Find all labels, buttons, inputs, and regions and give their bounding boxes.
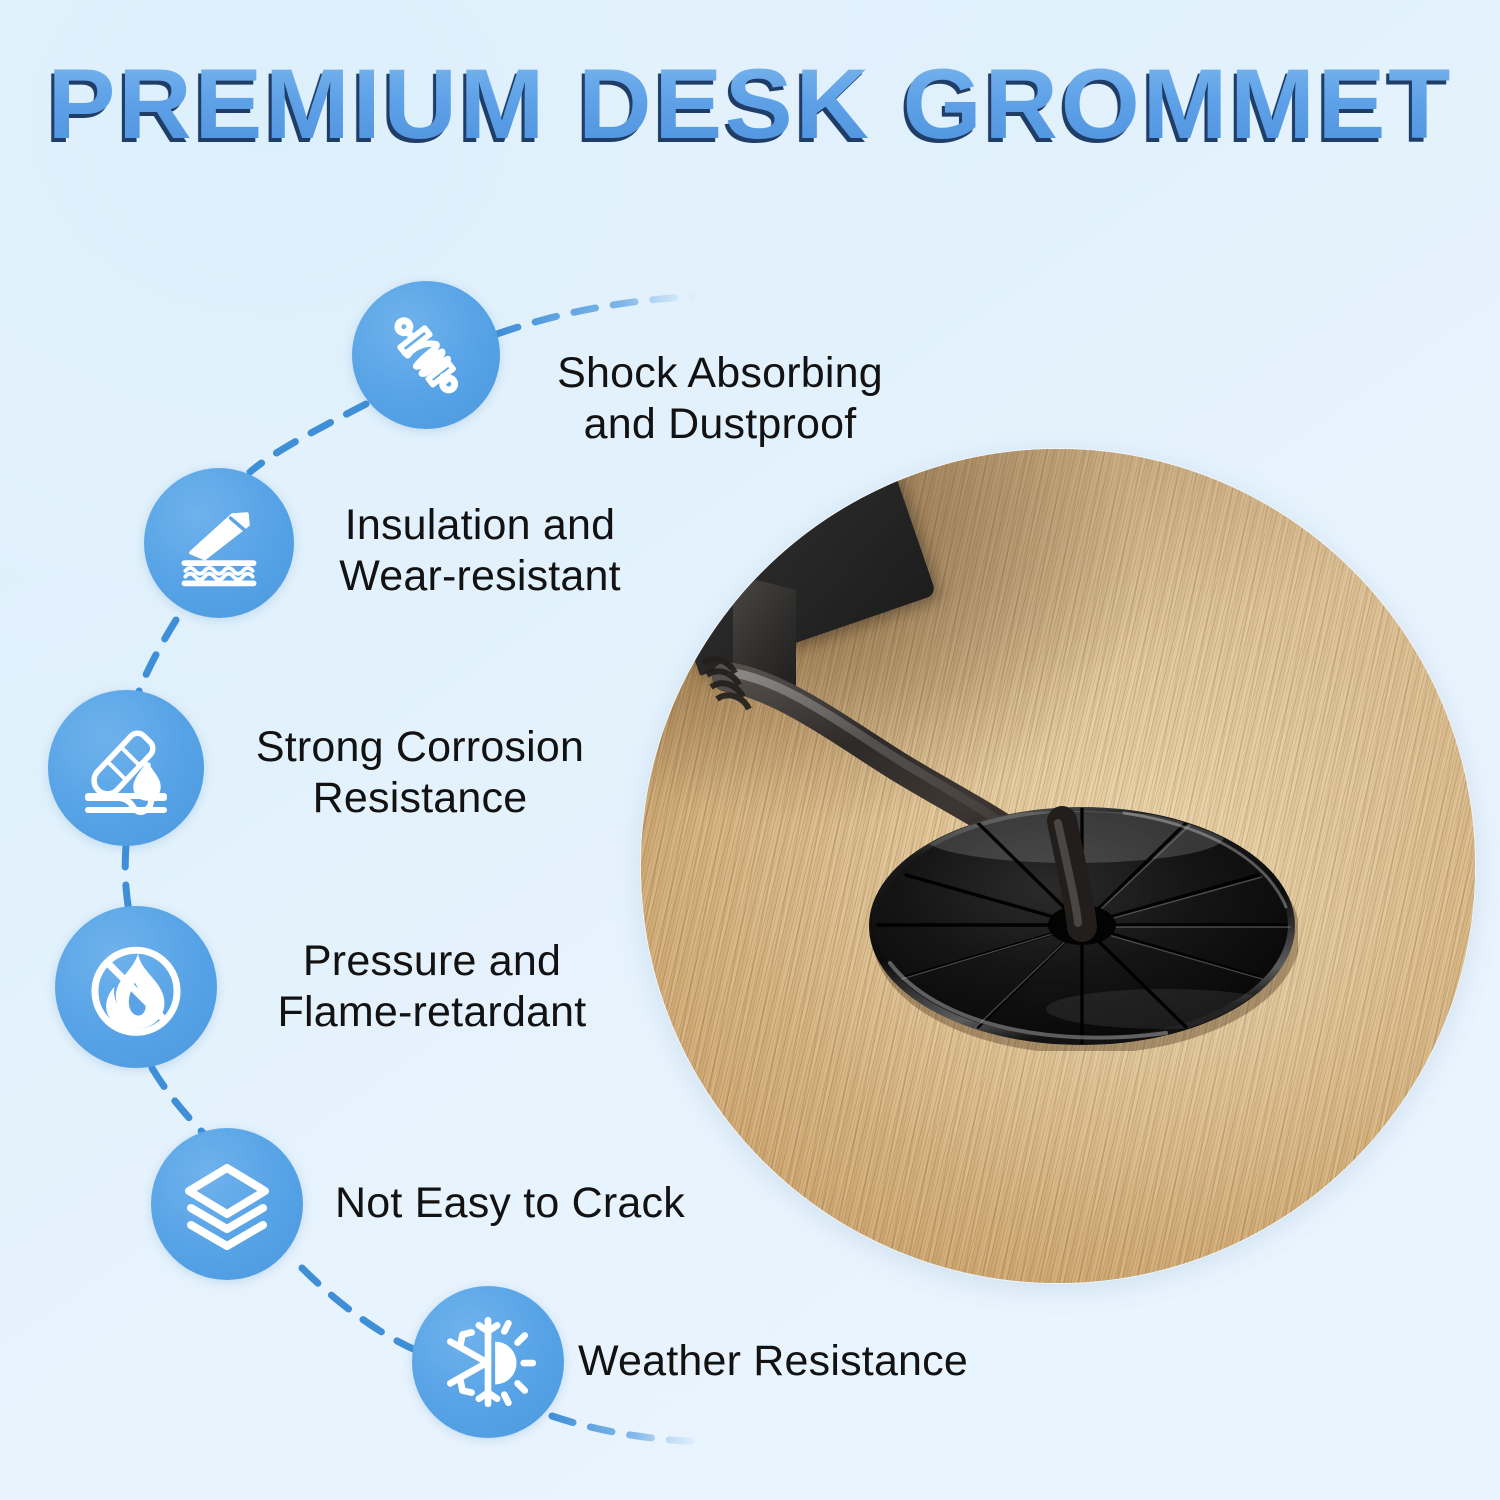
feature-flame-retardant-label: Pressure and Flame-retardant <box>242 936 622 1037</box>
test-tube-drip-icon <box>48 690 204 846</box>
blade-on-layers-icon <box>144 468 294 618</box>
connector-5-6 <box>302 1268 420 1352</box>
snowflake-sun-icon <box>412 1286 564 1438</box>
infographic-canvas: PREMIUM DESK GROMMET <box>0 0 1500 1500</box>
connector-bottom-tail <box>552 1416 706 1442</box>
product-photo <box>641 449 1475 1283</box>
feature-insulation-label: Insulation and Wear-resistant <box>300 500 660 601</box>
desk-grommet <box>866 801 1298 1051</box>
connector-1-2 <box>250 404 366 472</box>
layers-stack-icon <box>151 1128 303 1280</box>
feature-corrosion-label: Strong Corrosion Resistance <box>234 722 606 823</box>
page-title-container: PREMIUM DESK GROMMET <box>0 54 1500 153</box>
connector-2-3 <box>138 620 176 694</box>
no-flame-icon <box>55 906 217 1068</box>
connector-top-tail <box>497 296 700 334</box>
feature-weather-resistance-label: Weather Resistance <box>578 1336 1008 1387</box>
feature-not-easy-to-crack-label: Not Easy to Crack <box>300 1178 720 1229</box>
shock-absorber-icon <box>352 281 500 429</box>
feature-shock-absorbing-label: Shock Absorbing and Dustproof <box>520 348 920 449</box>
page-title: PREMIUM DESK GROMMET <box>47 54 1452 153</box>
